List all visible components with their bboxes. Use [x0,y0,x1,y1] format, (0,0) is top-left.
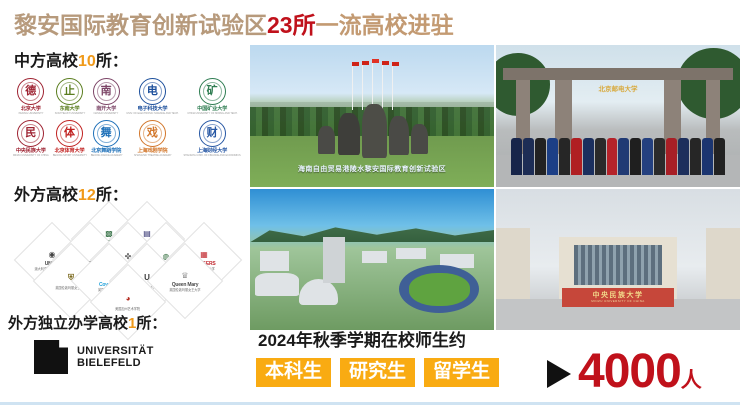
seal-glyph: 体 [64,128,75,139]
campus-building [260,251,289,271]
campus-tower [323,237,345,284]
signboard-cn: 中央民族大学 [592,292,643,299]
flagpole [362,62,363,110]
signboard-en: MINZU UNIVERSITY OF CHINA [591,299,644,303]
graduate [607,138,618,175]
seal-glyph: 南 [101,86,112,97]
university-seal-icon: 舞 [93,120,120,147]
flagpole [372,62,373,110]
photo-monument: 海南自由贸易港陵水黎安国际教育创新试验区 [250,45,494,187]
section-independent-label-post: 所： [136,315,166,332]
section-header-independent: 外方独立办学高校1所： [8,316,166,331]
university-name-en: BEIJING DANCE ACADEMY [90,155,122,158]
flagpole [352,62,353,110]
photo-aerial-campus [250,189,494,331]
graduate [702,138,713,175]
foreign-university-cn: 美国加州艺术学院 [116,307,141,310]
chinese-university-logo: 民中央民族大学MINZU UNIVERSITY OF CHINA [12,120,50,158]
monument-rock [362,104,386,158]
graduate [511,138,522,175]
chinese-university-logo: 矿中国矿业大学CHINA UNIVERSITY OF MINING AND TE… [182,78,242,116]
graduate [642,138,653,175]
chinese-university-logo: 财上海财经大学SHANGHAI UNIV. OF FINANCE AND ECO… [182,120,242,158]
foreign-university-cluster: ▩ALBERTA加拿大阿尔伯塔大学▤Glasgow英国格拉斯哥大学◉UNSW澳大… [6,212,250,312]
seal-glyph: 德 [25,86,36,97]
campus-building [362,251,386,264]
banner-number: 4000人 [578,348,701,396]
section-foreign-label-pre: 外方高校 [14,187,78,204]
photo-minzu-building: 中央民族大学 MINZU UNIVERSITY OF CHINA [496,189,740,331]
campus-building [255,273,299,296]
monument-rock [338,113,360,155]
chinese-university-logo: 戏上海戏剧学院SHANGHAI THEATRE ACADEMY [125,120,180,158]
banner-chip: 研究生 [340,358,415,387]
title-tail: 一流高校进驻 [316,12,454,38]
section-foreign-count: 12 [78,187,96,204]
section-foreign-label-post: 所： [96,187,128,204]
university-seal-icon: 止 [56,78,83,105]
foreign-university-mark-icon: ♕ [179,269,192,282]
chinese-university-logo: 舞北京舞蹈学院BEIJING DANCE ACADEMY [90,120,123,158]
graduate [535,138,546,175]
banner-number-unit: 人 [681,369,701,392]
university-seal-icon: 矿 [199,78,226,105]
photo-caption: 北京邮电大学 [550,83,687,93]
bielefeld-line2: BIELEFELD [77,357,154,369]
graduate [714,138,725,175]
stadium-field [409,273,470,306]
university-name-en: SHANGHAI UNIV. OF FINANCE AND ECONOMICS [184,155,241,158]
graduate [523,138,534,175]
section-header-chinese: 中方高校10所： [14,54,128,70]
graduate [547,138,558,175]
graduate [654,138,665,175]
seal-glyph: 民 [25,128,36,139]
graduate [583,138,594,175]
mountain-range [250,222,494,242]
foreign-university-word: Queen Mary [172,283,199,288]
flag-icon [352,62,359,66]
graduate [690,138,701,175]
bielefeld-wordmark: UNIVERSITÄT BIELEFELD [77,345,154,370]
university-seal-icon: 财 [199,120,226,147]
university-name-en: SOUTHEAST UNIVERSITY [54,113,84,116]
page-title: 黎安国际教育创新试验区23所一流高校进驻 [14,14,454,37]
photo-grid: 海南自由贸易港陵水黎安国际教育创新试验区 北京邮电大学 [250,45,740,330]
university-seal-icon: 德 [17,78,44,105]
building-signboard: 中央民族大学 MINZU UNIVERSITY OF CHINA [562,288,674,308]
chinese-university-logo: 电电子科技大学UNIV. OF ELECTRONIC SCIENCE AND T… [125,78,180,116]
seal-glyph: 电 [147,86,158,97]
bottom-banner: 2024年秋季学期在校师生约 本科生研究生留学生 4000人 [250,330,740,402]
flag-icon [372,59,379,63]
chinese-university-grid: 德北京大学PEKING UNIVERSITY止东南大学SOUTHEAST UNI… [12,78,240,158]
chinese-university-logo: 南南开大学NANKAI UNIVERSITY [90,78,123,116]
chinese-university-logo: 体北京体育大学BEIJING SPORT UNIVERSITY [52,120,88,158]
gate-canopy [503,68,732,81]
flag-icon [362,61,369,65]
title-lead: 黎安国际教育创新试验区 [14,12,267,38]
university-name-en: SHANGHAI THEATRE ACADEMY [134,155,172,158]
section-chinese-label-post: 所： [96,53,128,70]
foreign-university-mark-icon: ◕ [122,292,135,305]
university-name-en: NANKAI UNIVERSITY [94,113,119,116]
seal-glyph: 财 [207,128,218,139]
graduate [571,138,582,175]
seal-glyph: 矿 [207,86,218,97]
graduates-row [511,138,726,175]
university-seal-icon: 南 [93,78,120,105]
graduate [666,138,677,175]
bielefeld-logo: UNIVERSITÄT BIELEFELD [34,340,154,374]
monument-rock [318,126,335,154]
flag-icon [382,61,389,65]
foreign-university-cn: 英国伦敦玛丽女王大学 [169,289,200,292]
banner-chip: 留学生 [424,358,499,387]
graduate [595,138,606,175]
university-name-en: PEKING UNIVERSITY [18,113,43,116]
university-seal-icon: 民 [17,120,44,147]
photo-caption: 海南自由贸易港陵水黎安国际教育创新试验区 [265,164,480,174]
section-chinese-count: 10 [78,53,96,70]
banner-number-value: 4000 [578,345,681,398]
section-independent-label-pre: 外方独立办学高校 [8,315,128,332]
graduate [618,138,629,175]
side-building [496,228,530,307]
graduate [559,138,570,175]
banner-chips: 本科生研究生留学生 [256,358,499,387]
university-name-en: UNIV. OF ELECTRONIC SCIENCE AND TECH. [126,113,178,116]
photo-campus-gate: 北京邮电大学 [496,45,740,187]
university-name-en: BEIJING SPORT UNIVERSITY [52,155,86,158]
chinese-university-logo: 止东南大学SOUTHEAST UNIVERSITY [52,78,88,116]
seal-glyph: 戏 [147,128,158,139]
building-glass-facade [574,245,662,285]
bielefeld-line1: UNIVERSITÄT [77,345,154,357]
left-column: 中方高校10所： 德北京大学PEKING UNIVERSITY止东南大学SOUT… [0,44,250,405]
seal-glyph: 舞 [101,128,112,139]
arrow-icon [547,360,571,388]
title-count: 23所 [267,12,316,38]
banner-headline: 2024年秋季学期在校师生约 [258,332,466,349]
flagpole [382,62,383,110]
university-seal-icon: 体 [56,120,83,147]
banner-chip: 本科生 [256,358,331,387]
university-seal-icon: 电 [139,78,166,105]
side-building [706,228,740,307]
university-seal-icon: 戏 [139,120,166,147]
monument-rock [389,116,409,156]
university-name-en: MINZU UNIVERSITY OF CHINA [13,155,49,158]
campus-building [396,248,425,259]
monument-rock [411,124,428,154]
flag-icon [392,62,399,66]
flagpole [392,62,393,110]
university-name-en: CHINA UNIVERSITY OF MINING AND TECH. [187,113,237,116]
graduate [678,138,689,175]
section-chinese-label-pre: 中方高校 [14,53,78,70]
slide-root: 黎安国际教育创新试验区23所一流高校进驻 中方高校10所： 德北京大学PEKIN… [0,0,740,405]
graduate [630,138,641,175]
chinese-university-logo: 德北京大学PEKING UNIVERSITY [12,78,50,116]
bielefeld-mark-icon [34,340,68,374]
seal-glyph: 止 [64,86,75,97]
